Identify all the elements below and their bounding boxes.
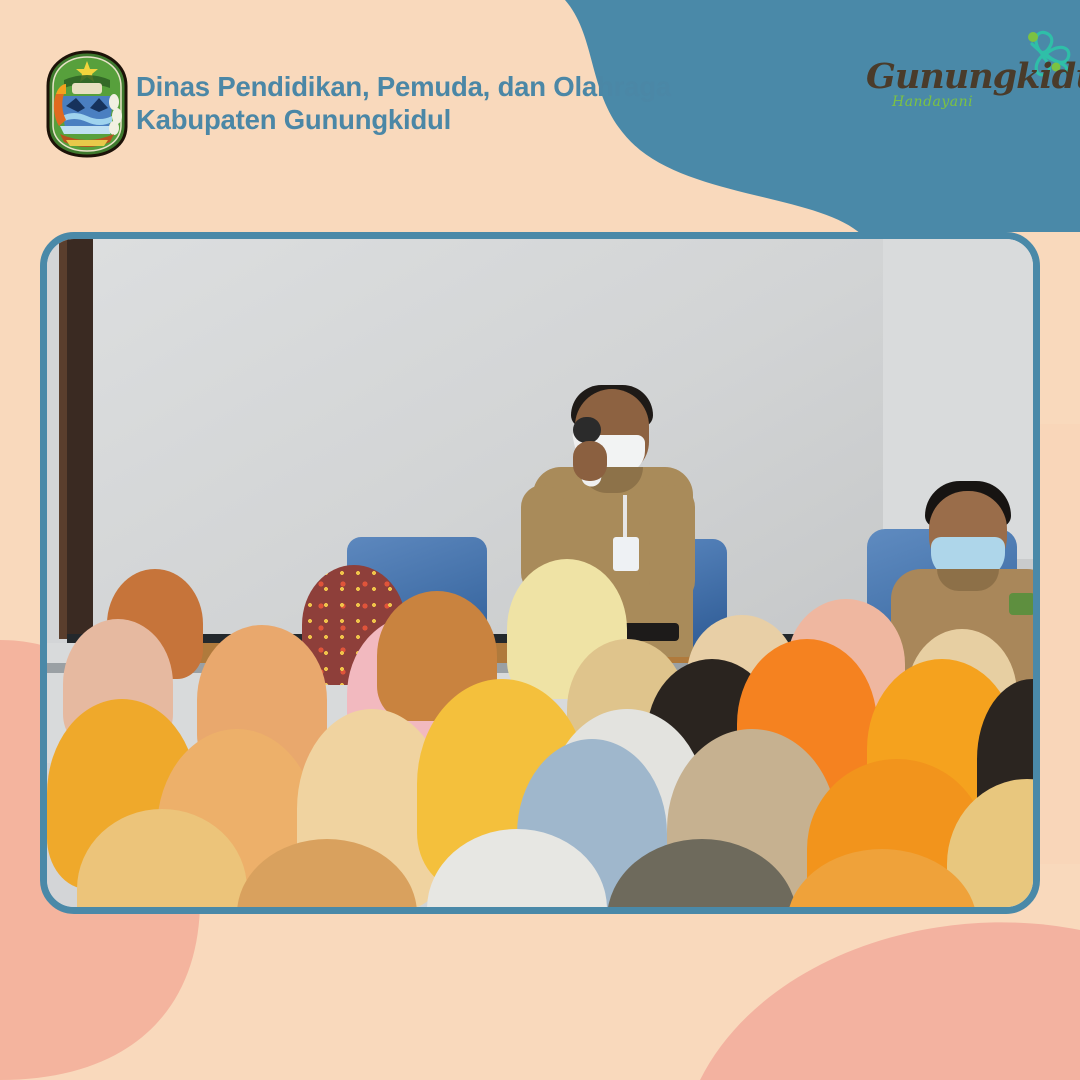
speaker-hand xyxy=(573,441,607,481)
meeting-room-photograph xyxy=(40,232,1040,914)
poster-header: Dinas Pendidikan, Pemuda, dan Olahraga K… xyxy=(0,0,1080,200)
photo-scene xyxy=(47,239,1033,907)
microphone-head xyxy=(573,417,601,443)
speaker-id-badge xyxy=(613,537,639,571)
brand-tagline: Handayani xyxy=(892,94,973,110)
official-shoulder-patch xyxy=(1009,593,1033,615)
speaker-lanyard xyxy=(623,495,627,541)
page-title-line-1: Dinas Pendidikan, Pemuda, dan Olahraga xyxy=(136,70,756,103)
regency-crest-icon xyxy=(44,50,130,158)
header-title-block: Dinas Pendidikan, Pemuda, dan Olahraga K… xyxy=(136,70,756,136)
projection-screen xyxy=(93,239,883,639)
brand-wordmark: Gunungkidul xyxy=(866,56,1080,97)
poster-footer: @dikpora_gk pendidikan.gunungkidulkab.go… xyxy=(0,930,1080,1080)
screen-frame-left xyxy=(67,239,93,639)
poster-canvas: Dinas Pendidikan, Pemuda, dan Olahraga K… xyxy=(0,0,1080,1080)
gunungkidul-brand-logo: Gunungkidul Handayani xyxy=(860,28,1070,128)
speaker-right-arm xyxy=(649,485,695,603)
page-title-line-2: Kabupaten Gunungkidul xyxy=(136,103,756,136)
